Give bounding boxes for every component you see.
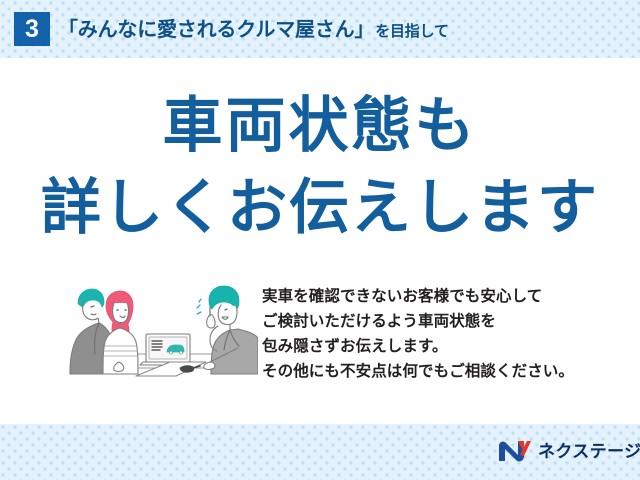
nextage-n-mark (498, 439, 532, 463)
brand-name: ネクステージ (538, 443, 640, 460)
advertisement-slide: 3 「みんなに愛されるクルマ屋さん」 を目指して 車両状態も 詳しくお伝えします (0, 0, 640, 480)
body-line-4: その他にも不安点は何でもご相談ください。 (262, 359, 612, 384)
section-number-badge: 3 (14, 12, 50, 46)
body-line-2: ご検討いただけるよう車両状態を (262, 309, 612, 334)
body-paragraph: 実車を確認できないお客様でも安心して ご検討いただけるよう車両状態を 包み隠さず… (262, 284, 612, 384)
body-line-3: 包み隠さずお伝えします。 (262, 334, 612, 359)
consultation-illustration (58, 276, 258, 396)
body-line-1: 実車を確認できないお客様でも安心して (262, 284, 612, 309)
headline: 車両状態も 詳しくお伝えします (0, 96, 640, 238)
header-title-suffix: を目指して (374, 20, 449, 41)
header-title-quoted: 「みんなに愛されるクルマ屋さん」 (58, 13, 374, 42)
brand-logo: ネクステージ (498, 436, 628, 466)
headline-line-1: 車両状態も (0, 96, 640, 156)
headline-line-2: 詳しくお伝えします (0, 178, 640, 238)
header-title: 「みんなに愛されるクルマ屋さん」 を目指して (58, 13, 449, 47)
